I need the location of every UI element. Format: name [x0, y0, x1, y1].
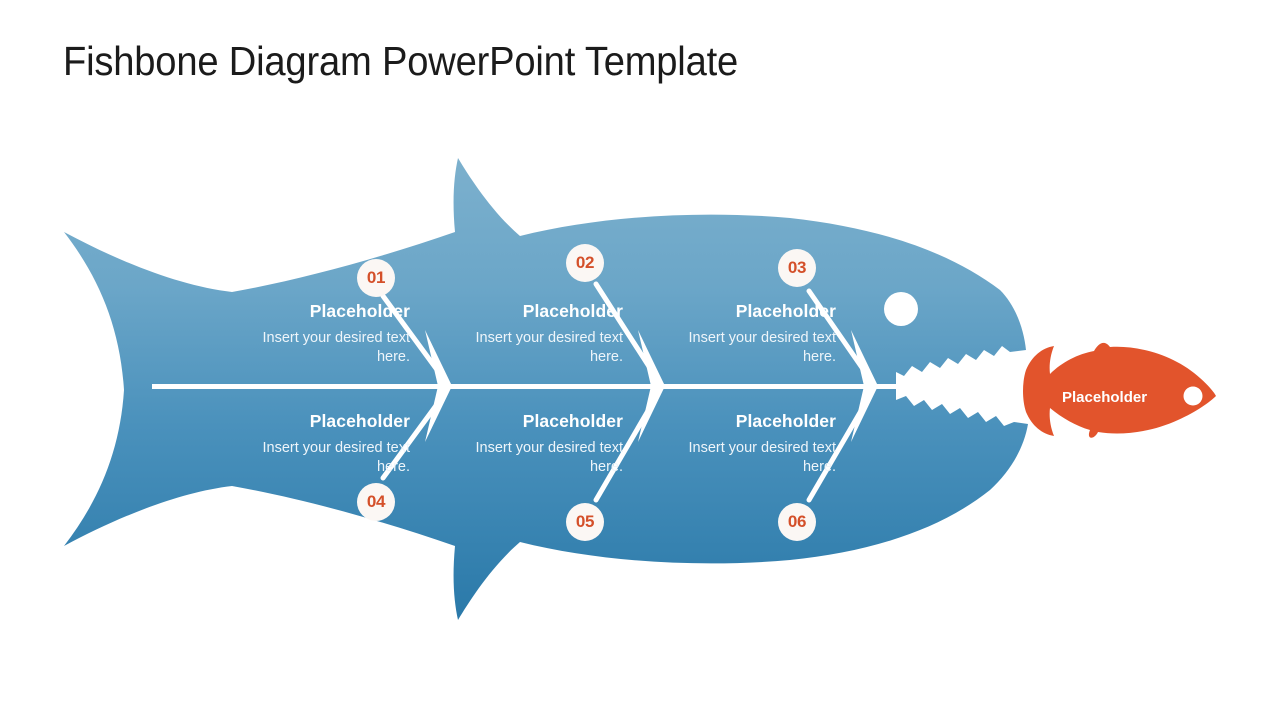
branch-badge-06[interactable]: 06	[778, 503, 816, 541]
branch-badge-01[interactable]: 01	[357, 259, 395, 297]
fishbone-diagram	[0, 0, 1280, 720]
eye-dot-icon	[1184, 387, 1203, 406]
result-fish-label: Placeholder	[1062, 389, 1147, 406]
eye-dot-icon	[884, 292, 918, 326]
branch-badge-05[interactable]: 05	[566, 503, 604, 541]
slide-canvas: Fishbone Diagram PowerPoint Template	[0, 0, 1280, 720]
branch-badge-03[interactable]: 03	[778, 249, 816, 287]
branch-badge-04[interactable]: 04	[357, 483, 395, 521]
branch-badge-02[interactable]: 02	[566, 244, 604, 282]
